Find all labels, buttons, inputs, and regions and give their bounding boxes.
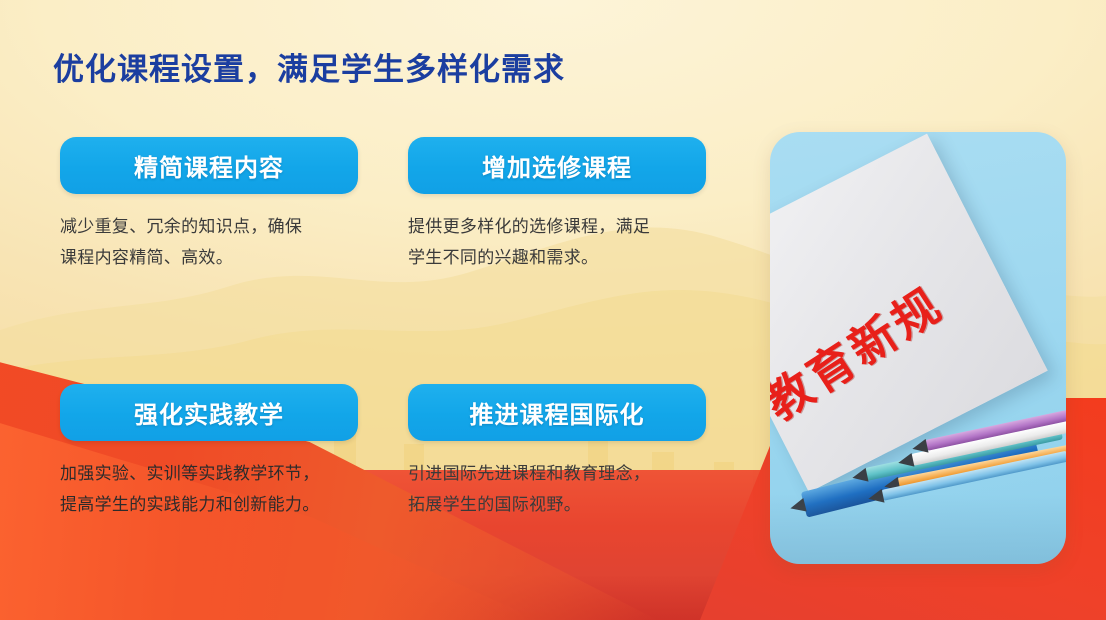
card-2-description: 提供更多样化的选修课程，满足 学生不同的兴趣和需求。 bbox=[408, 211, 718, 273]
card-3-description-line-1: 加强实验、实训等实践教学环节， bbox=[60, 458, 370, 489]
card-3-heading-label: 强化实践教学 bbox=[134, 395, 284, 430]
feature-card-1: 精简课程内容 减少重复、冗余的知识点，确保 课程内容精简、高效。 bbox=[60, 137, 360, 273]
card-1-description-line-1: 减少重复、冗余的知识点，确保 bbox=[60, 211, 370, 242]
feature-card-3: 强化实践教学 加强实验、实训等实践教学环节， 提高学生的实践能力和创新能力。 bbox=[60, 384, 360, 520]
photo-bottom-shadow bbox=[770, 494, 1066, 564]
card-4-description-line-1: 引进国际先进课程和教育理念， bbox=[408, 458, 718, 489]
card-4-heading-label: 推进课程国际化 bbox=[470, 395, 645, 430]
feature-card-4: 推进课程国际化 引进国际先进课程和教育理念， 拓展学生的国际视野。 bbox=[408, 384, 708, 520]
photo-panel: 教育新规 bbox=[770, 132, 1066, 564]
card-1-heading-label: 精简课程内容 bbox=[134, 148, 284, 183]
card-4-description: 引进国际先进课程和教育理念， 拓展学生的国际视野。 bbox=[408, 458, 718, 520]
card-4-heading-pill[interactable]: 推进课程国际化 bbox=[408, 384, 706, 441]
card-1-description-line-2: 课程内容精简、高效。 bbox=[60, 242, 370, 273]
feature-card-2: 增加选修课程 提供更多样化的选修课程，满足 学生不同的兴趣和需求。 bbox=[408, 137, 708, 273]
slide-canvas: 优化课程设置，满足学生多样化需求 精简课程内容 减少重复、冗余的知识点，确保 课… bbox=[0, 0, 1106, 620]
card-2-description-line-2: 学生不同的兴趣和需求。 bbox=[408, 242, 718, 273]
card-4-description-line-2: 拓展学生的国际视野。 bbox=[408, 489, 718, 520]
card-1-heading-pill[interactable]: 精简课程内容 bbox=[60, 137, 358, 194]
card-2-heading-pill[interactable]: 增加选修课程 bbox=[408, 137, 706, 194]
page-title: 优化课程设置，满足学生多样化需求 bbox=[53, 44, 565, 89]
card-3-description: 加强实验、实训等实践教学环节， 提高学生的实践能力和创新能力。 bbox=[60, 458, 370, 520]
card-3-heading-pill[interactable]: 强化实践教学 bbox=[60, 384, 358, 441]
card-1-description: 减少重复、冗余的知识点，确保 课程内容精简、高效。 bbox=[60, 211, 370, 273]
card-2-heading-label: 增加选修课程 bbox=[482, 148, 632, 183]
card-3-description-line-2: 提高学生的实践能力和创新能力。 bbox=[60, 489, 370, 520]
card-2-description-line-1: 提供更多样化的选修课程，满足 bbox=[408, 211, 718, 242]
